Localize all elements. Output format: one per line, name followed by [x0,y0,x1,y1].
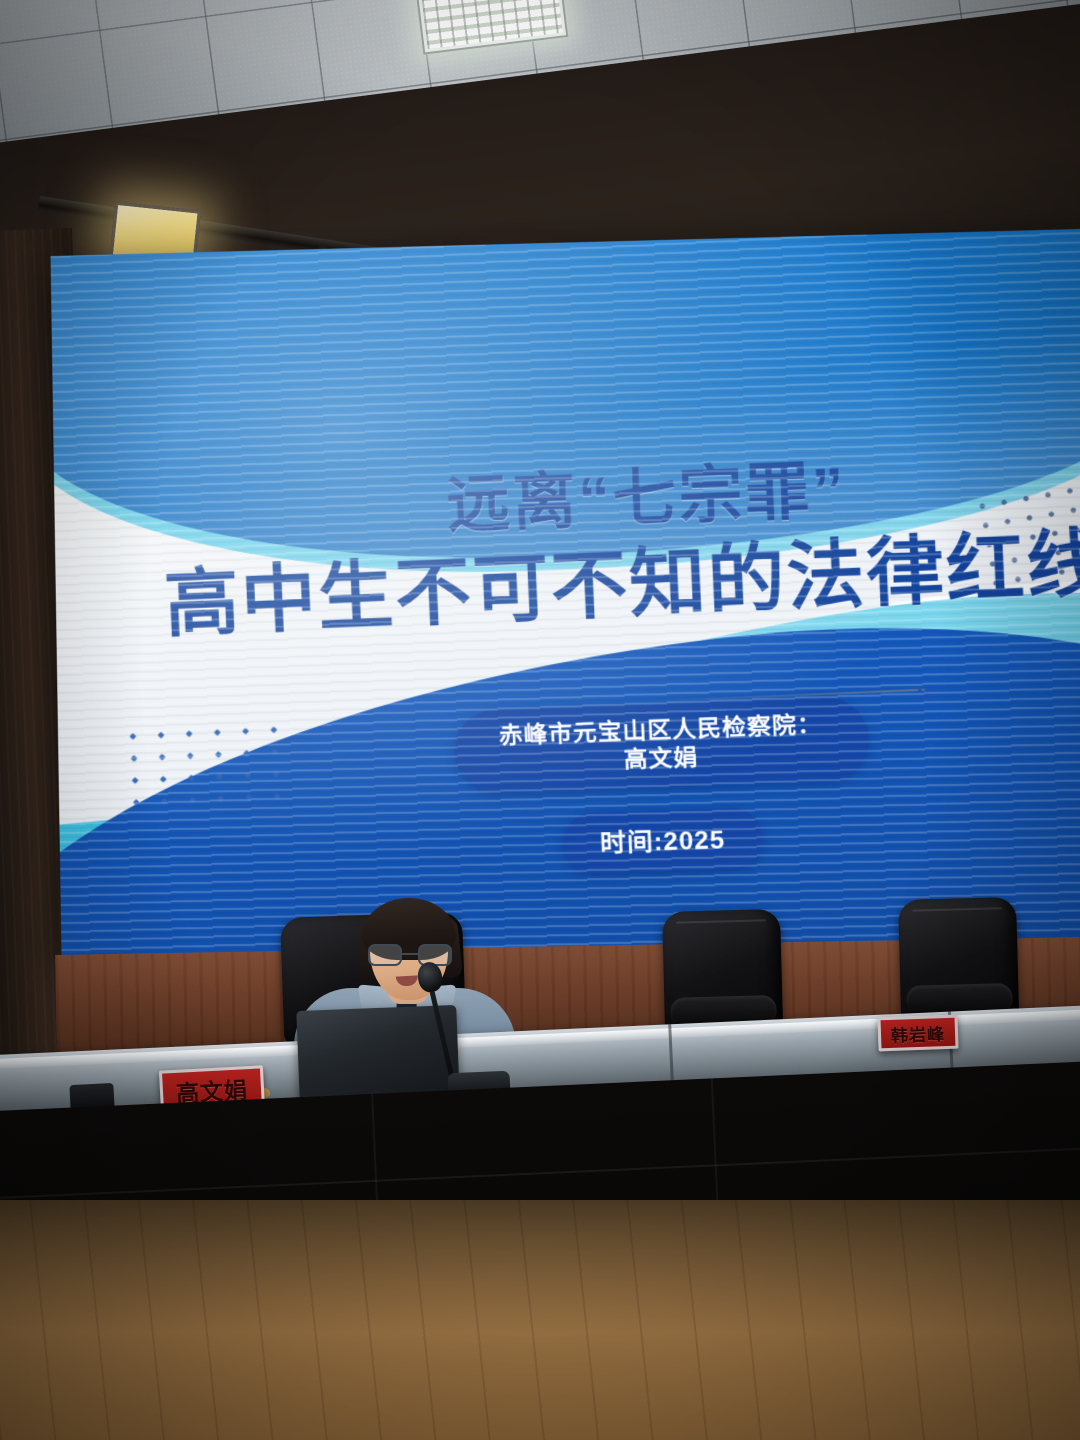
desk-panel-seam [0,1145,1080,1200]
slide-content: 远离“七宗罪” 高中生不可不知的法律红线 ››› 赤峰市元宝山区人民检察院： 高… [51,228,1080,956]
slide-organization-pill: 赤峰市元宝山区人民检察院： 高文娟 [453,696,870,794]
eyeglass-bridge [402,953,418,955]
slide-dot-grid-left [118,719,284,823]
time-label: 时间:2025 [599,826,725,859]
led-presentation-screen: 远离“七宗罪” 高中生不可不知的法律红线 ››› 赤峰市元宝山区人民检察院： 高… [51,228,1080,956]
wood-floor [0,1200,1080,1440]
nameplate-right: 韩岩峰 [877,1015,958,1052]
slide-time-pill: 时间:2025 [562,807,764,875]
eyeglass-lens-left [368,944,402,966]
nameplate-right-text: 韩岩峰 [891,1020,946,1047]
slide-surface: 远离“七宗罪” 高中生不可不知的法律红线 ››› 赤峰市元宝山区人民检察院： 高… [51,228,1080,956]
conference-hall-photo: 远离“七宗罪” 高中生不可不知的法律红线 ››› 赤峰市元宝山区人民检察院： 高… [0,0,1080,1440]
floor-shadow [0,1200,1080,1440]
slide-title-line-2: 高中生不可不知的法律红线 [162,502,1080,652]
chevron-right-icon: ››› [916,676,937,712]
eyeglasses-icon [366,944,454,966]
